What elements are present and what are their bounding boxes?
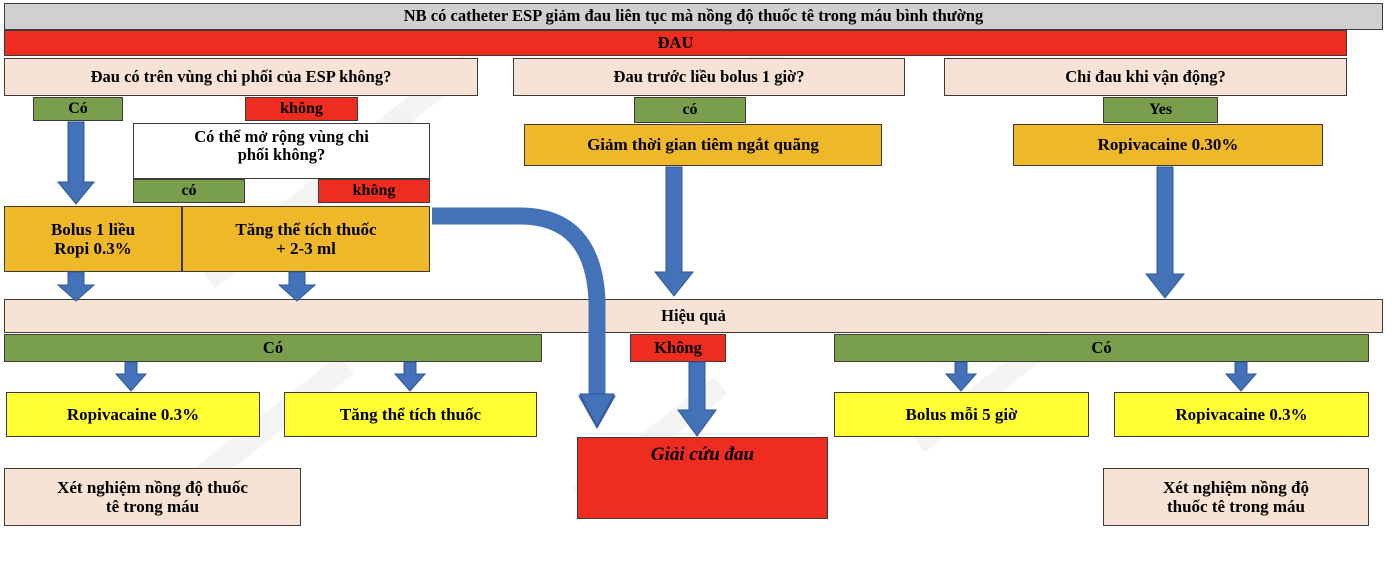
arrow-middle-down	[655, 167, 693, 296]
arrow-tang-down	[279, 272, 315, 301]
result-left-2: Tăng thể tích thuốc	[284, 392, 537, 437]
outcome-right-yes: Có	[834, 334, 1369, 362]
outcome-bar: Hiệu quả	[4, 299, 1383, 333]
action-left-no: Tăng thể tích thuốc + 2-3 ml	[182, 206, 430, 272]
action-left-yes: Bolus 1 liều Ropi 0.3%	[4, 206, 182, 272]
arrow-outcome-right-2	[1226, 362, 1256, 391]
result-rescue: Giải cứu đau	[577, 437, 828, 519]
flowchart-canvas: NB có catheter ESP giảm đau liên tục mà …	[0, 0, 1392, 572]
arrow-bolus-down	[58, 272, 94, 301]
left-no-label: không	[245, 97, 358, 121]
arrow-left-yes	[58, 122, 94, 204]
root-node-dau: ĐAU	[4, 30, 1347, 56]
arrow-outcome-left-1	[116, 362, 146, 391]
action-middle: Giảm thời gian tiêm ngắt quãng	[524, 124, 882, 166]
result-right-2: Ropivacaine 0.3%	[1114, 392, 1369, 437]
arrow-outcome-left-2	[395, 362, 425, 391]
left-sub-no-label: không	[318, 179, 430, 203]
followup-right: Xét nghiệm nồng độ thuốc tê trong máu	[1103, 468, 1369, 526]
result-left-1: Ropivacaine 0.3%	[6, 392, 260, 437]
outcome-left-yes: Có	[4, 334, 542, 362]
action-right: Ropivacaine 0.30%	[1013, 124, 1323, 166]
left-yes-label: Có	[33, 97, 123, 121]
arrow-right-down	[1146, 167, 1184, 298]
middle-yes-label: có	[634, 97, 746, 123]
question-left-sub: Có thể mở rộng vùng chi phối không?	[133, 123, 430, 179]
outcome-no: Không	[630, 334, 726, 362]
arrow-outcome-right-1	[946, 362, 976, 391]
question-middle: Đau trước liều bolus 1 giờ?	[513, 58, 905, 96]
chart-title-bar: NB có catheter ESP giảm đau liên tục mà …	[4, 3, 1383, 30]
question-right: Chỉ đau khi vận động?	[944, 58, 1347, 96]
result-right-1: Bolus mỗi 5 giờ	[834, 392, 1089, 437]
followup-left: Xét nghiệm nồng độ thuốc tê trong máu	[4, 468, 301, 526]
left-sub-yes-label: có	[133, 179, 245, 203]
arrow-outcome-no	[678, 362, 716, 436]
question-left: Đau có trên vùng chi phối của ESP không?	[4, 58, 478, 96]
right-yes-label: Yes	[1103, 97, 1218, 123]
